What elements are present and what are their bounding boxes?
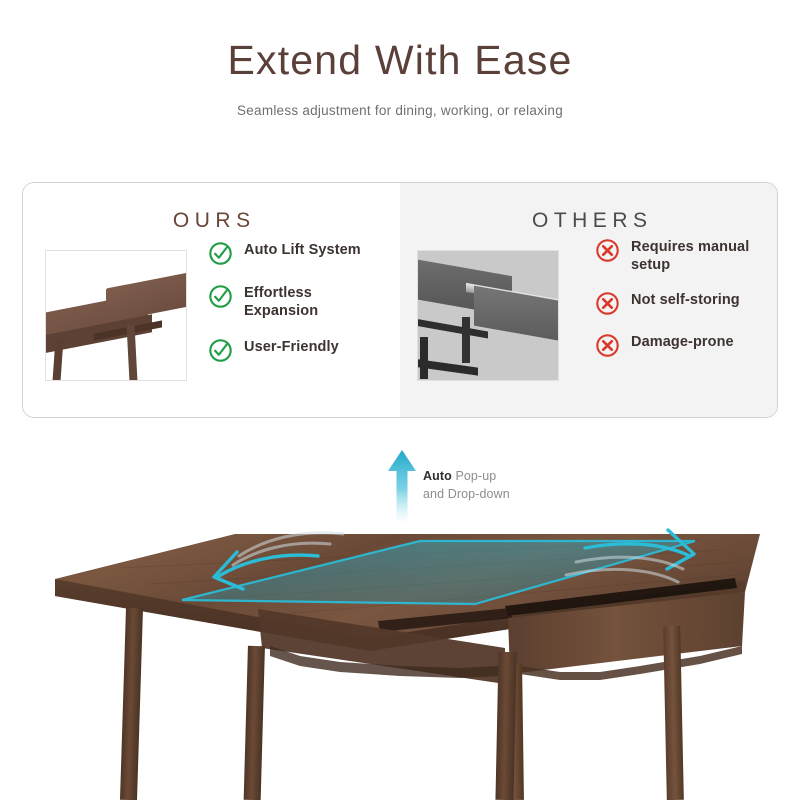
page-subtitle: Seamless adjustment for dining, working,… (0, 103, 800, 118)
feature-item: Not self-storing (595, 290, 749, 316)
feature-label: Not self-storing (631, 290, 740, 310)
feature-label: User-Friendly (244, 337, 339, 357)
feature-item: Auto Lift System (208, 240, 361, 266)
others-column: OTHERS Requires manual se (400, 183, 778, 417)
feature-label: Effortless Expansion (244, 283, 318, 320)
check-circle-icon (208, 284, 233, 309)
ours-feature-list: Auto Lift System Effortless Expansion (208, 240, 361, 380)
comparison-panel: OURS Auto Lift System (22, 182, 778, 418)
feature-label: Auto Lift System (244, 240, 361, 260)
x-circle-icon (595, 238, 620, 263)
x-circle-icon (595, 291, 620, 316)
x-circle-icon (595, 333, 620, 358)
feature-item: Requires manual setup (595, 237, 749, 274)
others-feature-list: Requires manual setup Not self-storing (595, 237, 749, 374)
ours-heading: OURS (23, 209, 400, 233)
ours-thumbnail (45, 250, 187, 381)
feature-label: Requires manual setup (631, 237, 749, 274)
others-heading: OTHERS (400, 209, 778, 233)
feature-item: Effortless Expansion (208, 283, 361, 320)
check-circle-icon (208, 338, 233, 363)
feature-item: User-Friendly (208, 337, 361, 363)
page-title: Extend With Ease (0, 38, 800, 83)
callout-emphasis: Auto (423, 469, 452, 483)
feature-label: Damage-prone (631, 332, 734, 352)
header: Extend With Ease Seamless adjustment for… (0, 38, 800, 118)
ours-column: OURS Auto Lift System (23, 183, 400, 417)
check-circle-icon (208, 241, 233, 266)
feature-item: Damage-prone (595, 332, 749, 358)
others-thumbnail (417, 250, 559, 381)
hero-table-photo (0, 496, 800, 800)
